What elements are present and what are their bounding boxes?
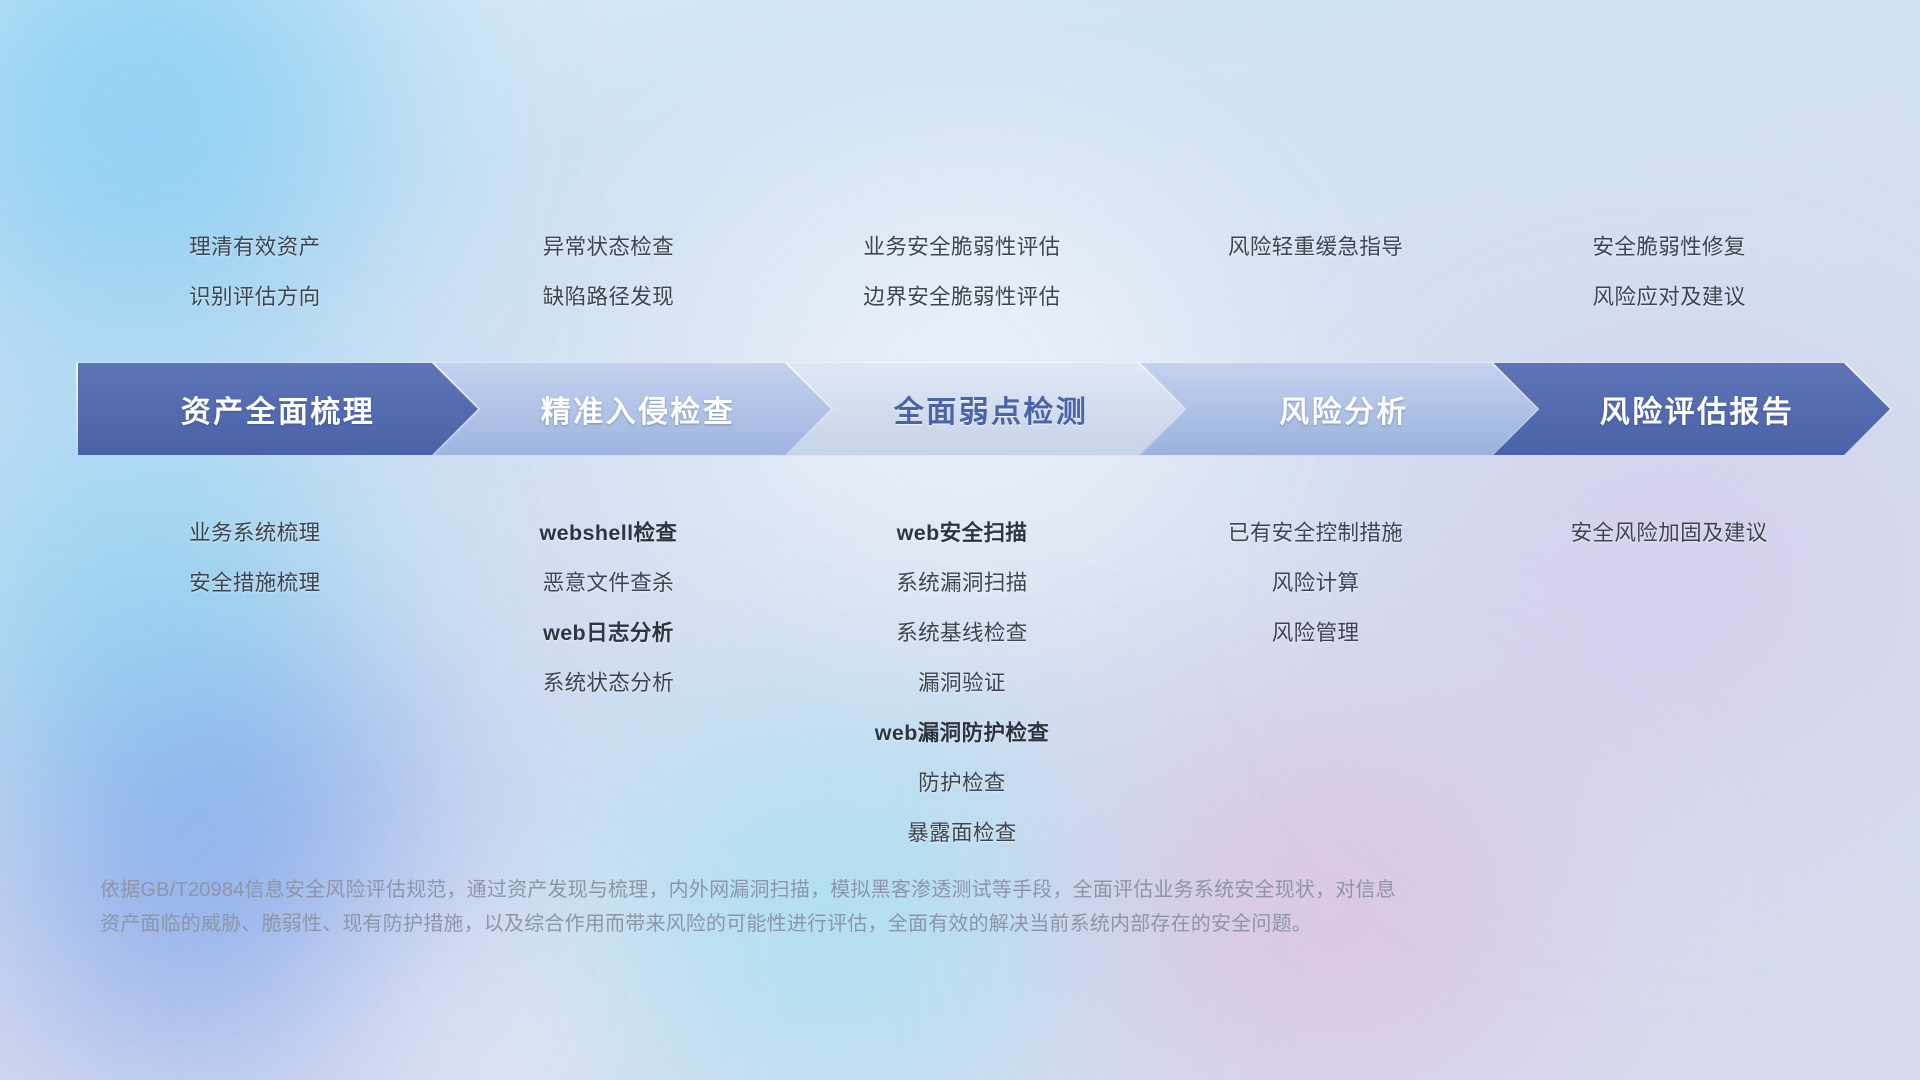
- activity-item: 漏洞验证: [785, 658, 1139, 708]
- chevron-stage-risk-analysis[interactable]: 风险分析: [1137, 363, 1537, 455]
- chevron-label: 风险评估报告: [1586, 387, 1794, 431]
- activity-item: 系统状态分析: [432, 658, 786, 708]
- activity-item: 风险计算: [1139, 558, 1493, 608]
- outcome-item: 业务安全脆弱性评估: [785, 222, 1139, 272]
- activity-item: 暴露面检查: [785, 808, 1139, 858]
- activity-item: 安全措施梳理: [78, 558, 432, 608]
- stage-activities-assessment-report: 安全风险加固及建议: [1492, 508, 1846, 558]
- chevron-stage-intrusion-check[interactable]: 精准入侵检查: [431, 363, 831, 455]
- activity-item: web日志分析: [432, 608, 786, 658]
- activity-item: 恶意文件查杀: [432, 558, 786, 608]
- chevron-stage-weakness-detection[interactable]: 全面弱点检测: [784, 363, 1184, 455]
- chevron-stage-asset-inventory[interactable]: 资产全面梳理: [78, 363, 478, 455]
- outcome-item: 安全脆弱性修复: [1492, 222, 1846, 272]
- footer-line-2: 资产面临的威胁、脆弱性、现有防护措施，以及综合作用而带来风险的可能性进行评估，全…: [100, 907, 1840, 941]
- activity-item: 系统漏洞扫描: [785, 558, 1139, 608]
- activity-item: 已有安全控制措施: [1139, 508, 1493, 558]
- stage-outcomes-row: 理清有效资产识别评估方向异常状态检查缺陷路径发现业务安全脆弱性评估边界安全脆弱性…: [78, 222, 1846, 322]
- stage-activities-asset-inventory: 业务系统梳理安全措施梳理: [78, 508, 432, 608]
- activity-item: web漏洞防护检查: [785, 708, 1139, 758]
- activity-item: 系统基线检查: [785, 608, 1139, 658]
- stage-outcomes-risk-analysis: 风险轻重缓急指导: [1139, 222, 1493, 272]
- stage-activities-row: 业务系统梳理安全措施梳理webshell检查恶意文件查杀web日志分析系统状态分…: [78, 508, 1846, 858]
- outcome-item: 风险轻重缓急指导: [1139, 222, 1493, 272]
- chevron-stage-assessment-report[interactable]: 风险评估报告: [1490, 363, 1890, 455]
- outcome-item: 风险应对及建议: [1492, 272, 1846, 322]
- outcome-item: 识别评估方向: [78, 272, 432, 322]
- chevron-label: 资产全面梳理: [181, 387, 375, 431]
- activity-item: 业务系统梳理: [78, 508, 432, 558]
- stage-activities-weakness-detection: web安全扫描系统漏洞扫描系统基线检查漏洞验证web漏洞防护检查防护检查暴露面检…: [785, 508, 1139, 858]
- stage-outcomes-assessment-report: 安全脆弱性修复风险应对及建议: [1492, 222, 1846, 322]
- outcome-item: 缺陷路径发现: [432, 272, 786, 322]
- activity-item: 风险管理: [1139, 608, 1493, 658]
- process-flow-diagram: 理清有效资产识别评估方向异常状态检查缺陷路径发现业务安全脆弱性评估边界安全脆弱性…: [0, 0, 1920, 1080]
- outcome-item: 理清有效资产: [78, 222, 432, 272]
- stage-outcomes-weakness-detection: 业务安全脆弱性评估边界安全脆弱性评估: [785, 222, 1139, 322]
- activity-item: 安全风险加固及建议: [1492, 508, 1846, 558]
- stage-outcomes-intrusion-check: 异常状态检查缺陷路径发现: [432, 222, 786, 322]
- chevron-label: 精准入侵检查: [527, 387, 735, 431]
- stage-outcomes-asset-inventory: 理清有效资产识别评估方向: [78, 222, 432, 322]
- outcome-item: 异常状态检查: [432, 222, 786, 272]
- chevron-label: 风险分析: [1265, 387, 1409, 431]
- stage-activities-risk-analysis: 已有安全控制措施风险计算风险管理: [1139, 508, 1493, 658]
- stage-activities-intrusion-check: webshell检查恶意文件查杀web日志分析系统状态分析: [432, 508, 786, 708]
- footer-line-1: 依据GB/T20984信息安全风险评估规范，通过资产发现与梳理，内外网漏洞扫描，…: [100, 873, 1840, 907]
- activity-item: webshell检查: [432, 508, 786, 558]
- stage-chevron-band: 资产全面梳理精准入侵检查全面弱点检测风险分析风险评估报告: [78, 363, 1868, 455]
- chevron-label: 全面弱点检测: [880, 387, 1088, 431]
- activity-item: 防护检查: [785, 758, 1139, 808]
- footer-description: 依据GB/T20984信息安全风险评估规范，通过资产发现与梳理，内外网漏洞扫描，…: [100, 873, 1840, 941]
- activity-item: web安全扫描: [785, 508, 1139, 558]
- outcome-item: 边界安全脆弱性评估: [785, 272, 1139, 322]
